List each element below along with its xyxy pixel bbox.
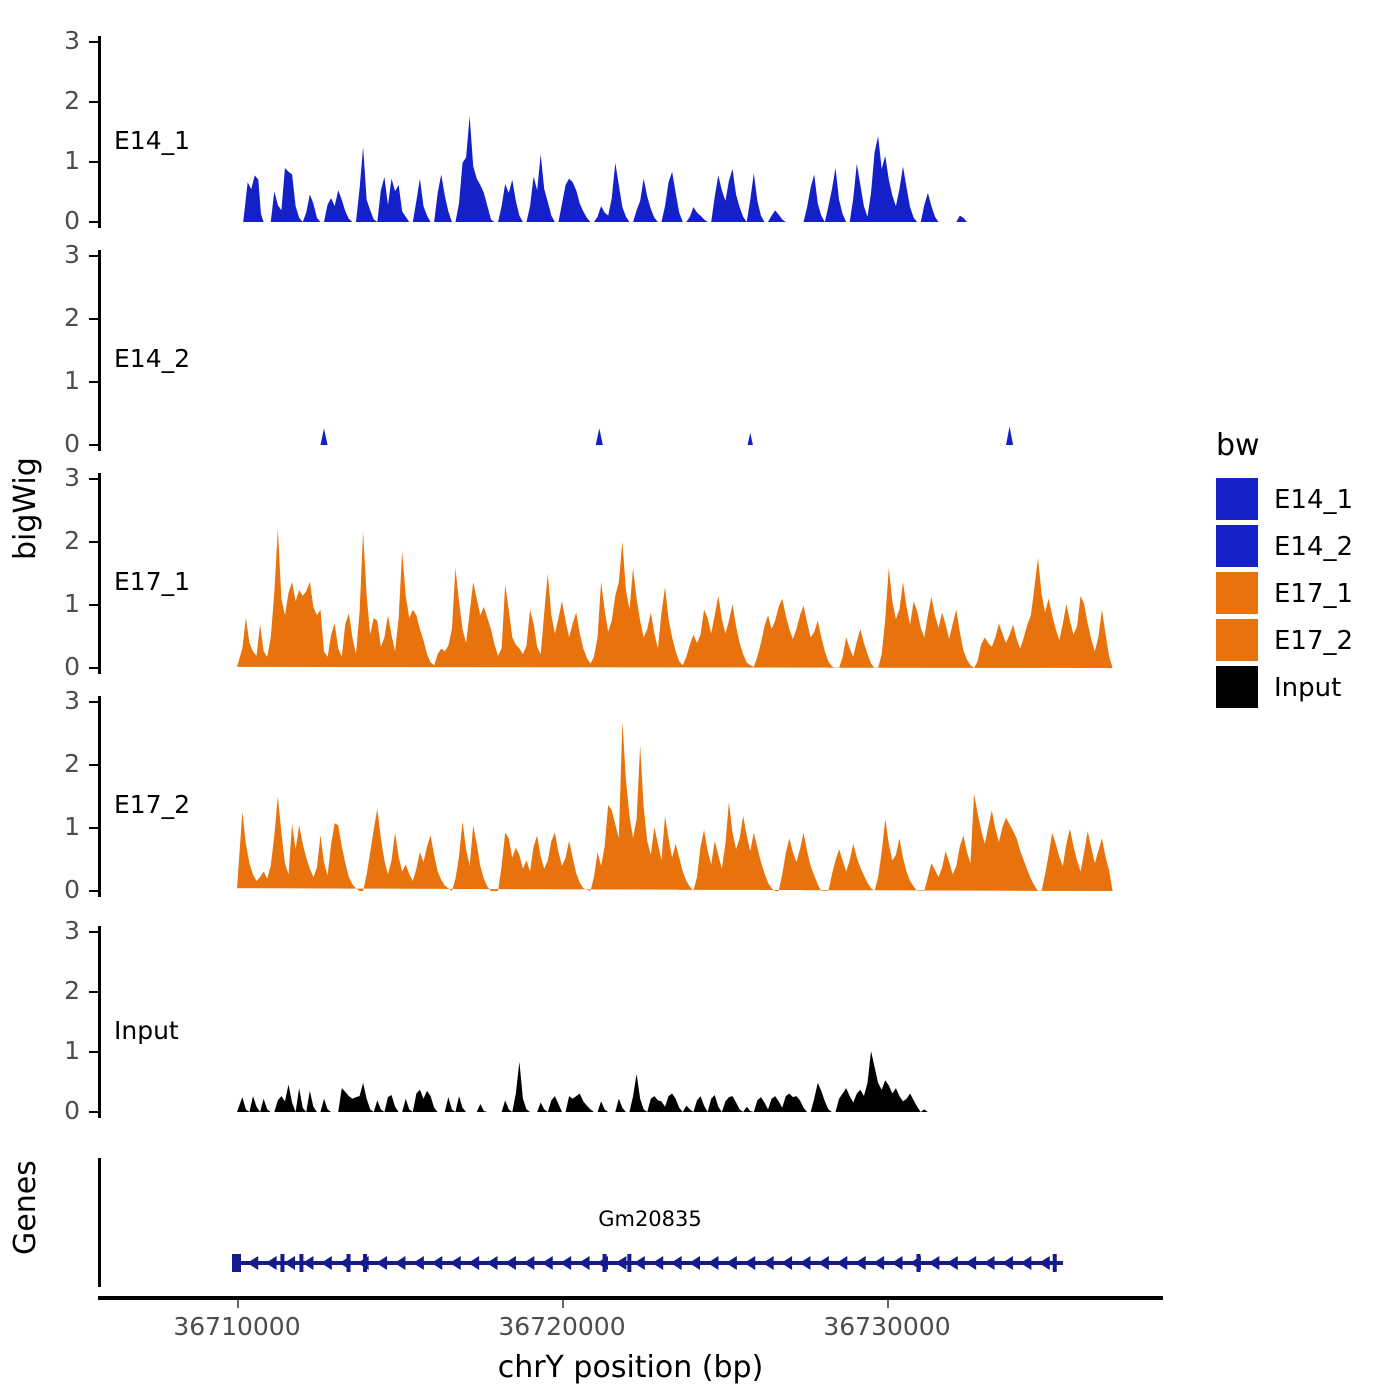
- genome-browser-figure: bigWig Genes 0123E14_10123E14_20123E17_1…: [0, 0, 1400, 1400]
- x-tick-label: 36730000: [787, 1312, 987, 1341]
- genes-spine: [98, 1158, 101, 1287]
- x-tick-label: 36710000: [137, 1312, 337, 1341]
- gene-label: Gm20835: [500, 1207, 800, 1231]
- legend-label-e14_1: E14_1: [1274, 485, 1353, 515]
- legend-swatch-input: [1216, 666, 1258, 708]
- gene-model-gm20835[interactable]: [229, 1246, 1071, 1280]
- x-tick: [887, 1300, 889, 1308]
- x-tick: [562, 1300, 564, 1308]
- legend-swatch-e17_1: [1216, 572, 1258, 614]
- legend-swatch-e14_2: [1216, 525, 1258, 567]
- x-tick: [237, 1300, 239, 1308]
- legend-label-e17_1: E17_1: [1274, 579, 1353, 609]
- legend-label-e14_2: E14_2: [1274, 532, 1353, 562]
- legend-swatch-e14_1: [1216, 478, 1258, 520]
- x-tick-label: 36720000: [462, 1312, 662, 1341]
- legend-title: bw: [1216, 428, 1260, 463]
- x-axis-line: [98, 1296, 1163, 1300]
- x-axis-title: chrY position (bp): [98, 1350, 1163, 1385]
- legend-label-input: Input: [1274, 673, 1341, 703]
- panel-genes: Gm20835: [0, 0, 1400, 1400]
- legend-label-e17_2: E17_2: [1274, 626, 1353, 656]
- legend-swatch-e17_2: [1216, 619, 1258, 661]
